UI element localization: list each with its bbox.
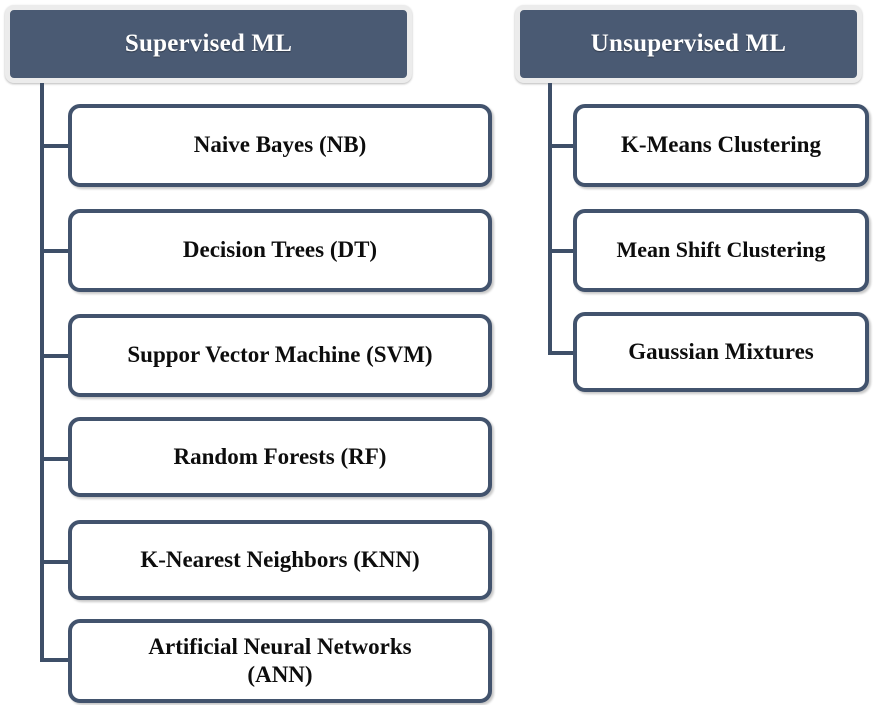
leaf-node-support-vector-machine-label: Suppor Vector Machine (SVM)	[119, 341, 440, 369]
connector-branch-supervised-2	[40, 249, 70, 253]
leaf-node-random-forests[interactable]: Random Forests (RF)	[68, 417, 492, 497]
leaf-node-support-vector-machine[interactable]: Suppor Vector Machine (SVM)	[68, 314, 492, 397]
connector-branch-supervised-4	[40, 457, 70, 461]
root-node-supervised[interactable]: Supervised ML	[5, 5, 412, 83]
connector-trunk-supervised	[40, 83, 44, 662]
connector-branch-supervised-1	[40, 144, 70, 148]
root-node-unsupervised[interactable]: Unsupervised ML	[515, 5, 862, 83]
leaf-node-k-means-clustering-label: K-Means Clustering	[613, 131, 829, 159]
leaf-node-artificial-neural-networks[interactable]: Artificial Neural Networks (ANN)	[68, 619, 492, 703]
leaf-node-k-nearest-neighbors[interactable]: K-Nearest Neighbors (KNN)	[68, 520, 492, 600]
connector-branch-supervised-6	[40, 658, 70, 662]
connector-trunk-unsupervised	[548, 83, 552, 355]
leaf-node-naive-bayes-label: Naive Bayes (NB)	[186, 131, 374, 159]
leaf-node-mean-shift-clustering-label: Mean Shift Clustering	[609, 237, 834, 264]
leaf-node-gaussian-mixtures[interactable]: Gaussian Mixtures	[573, 312, 869, 392]
root-node-supervised-label: Supervised ML	[125, 30, 292, 58]
leaf-node-mean-shift-clustering[interactable]: Mean Shift Clustering	[573, 209, 869, 292]
leaf-node-k-nearest-neighbors-label: K-Nearest Neighbors (KNN)	[132, 546, 427, 574]
ml-taxonomy-diagram: Supervised ML Naive Bayes (NB) Decision …	[0, 0, 873, 705]
connector-branch-supervised-3	[40, 354, 70, 358]
leaf-node-naive-bayes[interactable]: Naive Bayes (NB)	[68, 104, 492, 187]
root-node-unsupervised-label: Unsupervised ML	[591, 30, 786, 58]
leaf-node-decision-trees[interactable]: Decision Trees (DT)	[68, 209, 492, 292]
leaf-node-k-means-clustering[interactable]: K-Means Clustering	[573, 104, 869, 187]
connector-branch-supervised-5	[40, 560, 70, 564]
leaf-node-random-forests-label: Random Forests (RF)	[166, 443, 395, 471]
leaf-node-decision-trees-label: Decision Trees (DT)	[175, 236, 385, 264]
leaf-node-artificial-neural-networks-label: Artificial Neural Networks (ANN)	[107, 633, 453, 689]
leaf-node-gaussian-mixtures-label: Gaussian Mixtures	[620, 338, 822, 366]
